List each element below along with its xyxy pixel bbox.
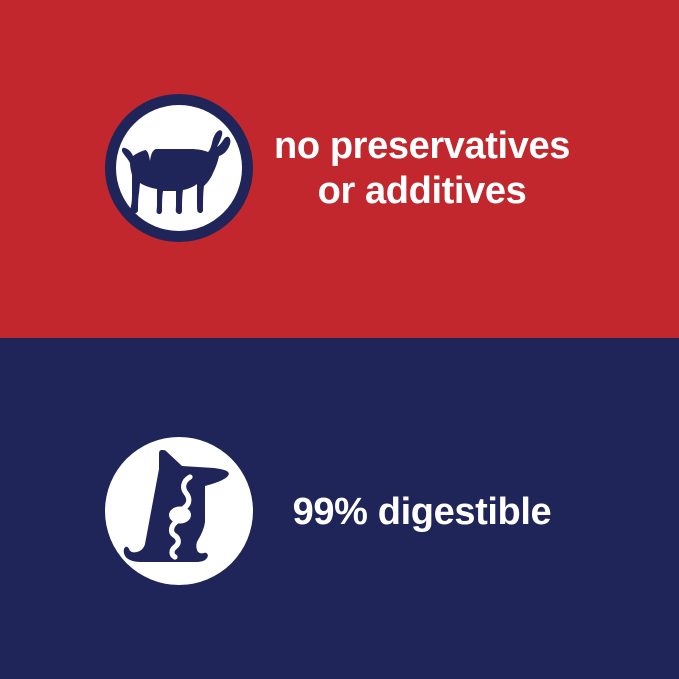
stomach-icon [169,507,191,524]
benefit-text-line-1: 99% digestible [272,490,572,535]
dog-digestion-badge [104,436,254,586]
product-benefits-graphic: no preservatives or additives [0,0,679,679]
benefit-text-line-1: no preservatives [272,124,572,169]
benefit-panel-digestible: 99% digestible [0,338,679,679]
benefit-text-line-2: or additives [272,169,572,214]
benefit-text-digestible: 99% digestible [272,490,572,535]
cow-sparkle-badge-icon [104,93,254,243]
benefit-panel-no-preservatives: no preservatives or additives [0,0,679,338]
dog-digestion-badge-icon [104,436,254,586]
cow-sparkle-badge [104,93,254,243]
benefit-text-no-preservatives: no preservatives or additives [272,124,572,214]
